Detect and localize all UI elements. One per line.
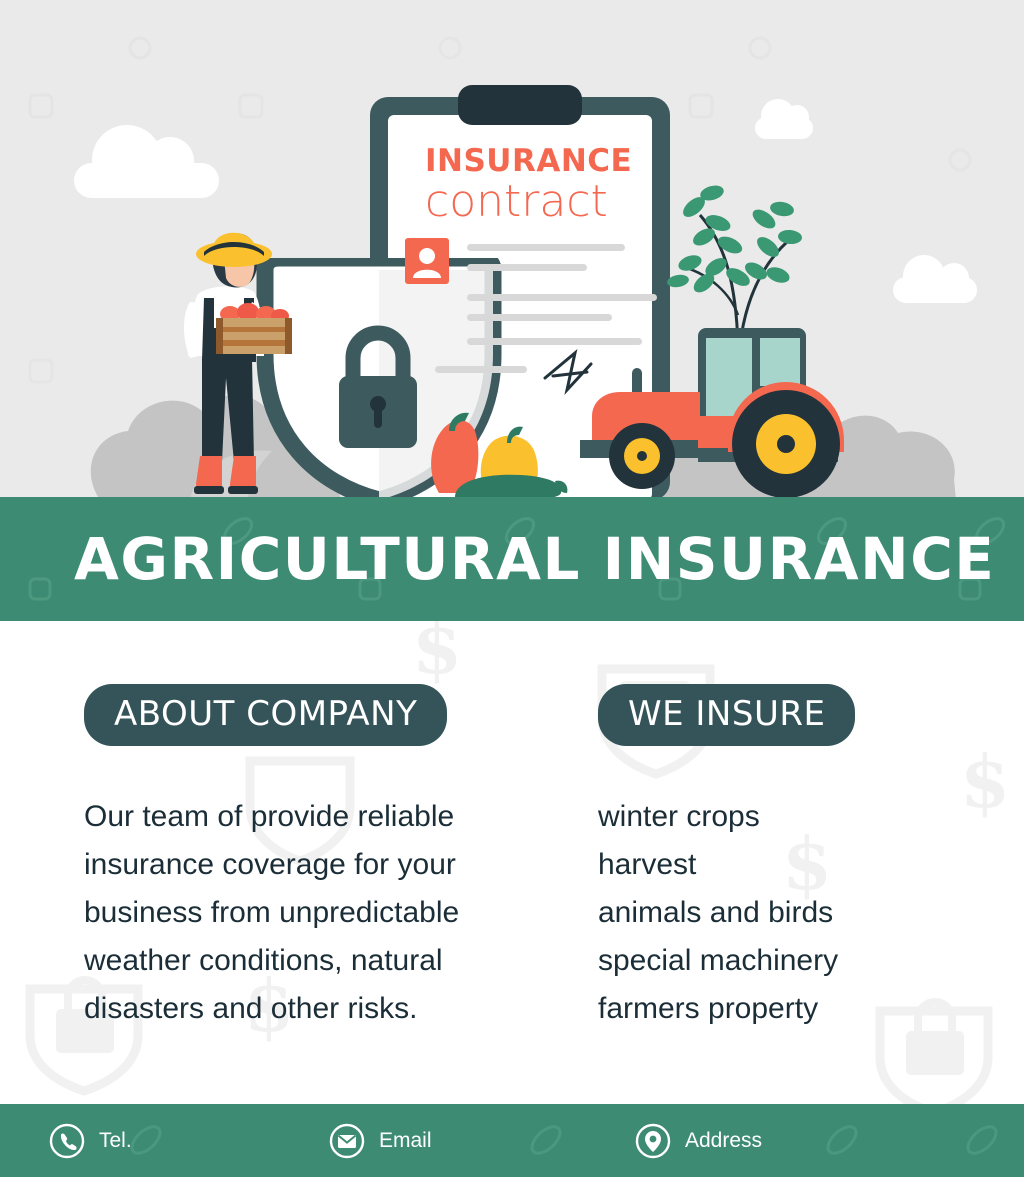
- about-company-heading: ABOUT COMPANY: [84, 684, 447, 746]
- address-icon: [634, 1122, 672, 1160]
- contact-tel[interactable]: Tel.: [48, 1122, 132, 1160]
- clipboard-content: [405, 238, 665, 448]
- clipboard-title-light: contract: [425, 176, 608, 227]
- we-insure-heading: WE INSURE: [598, 684, 855, 746]
- contact-label: Email: [379, 1129, 432, 1153]
- list-item: animals and birds: [598, 889, 998, 937]
- footer-watermark: [0, 1104, 1024, 1177]
- content-section: $ $ $ $ ABOUT COMPANY Our team of provid…: [0, 621, 1024, 1104]
- contact-address[interactable]: Address: [634, 1122, 762, 1160]
- email-icon: [328, 1122, 366, 1160]
- contact-email[interactable]: Email: [328, 1122, 432, 1160]
- phone-icon: [48, 1122, 86, 1160]
- about-company-text: Our team of provide reliable insurance c…: [84, 793, 564, 1033]
- page-title: AGRICULTURAL INSURANCE: [0, 525, 995, 593]
- list-item: special machinery: [598, 937, 998, 985]
- list-item: harvest: [598, 841, 998, 889]
- clipboard-title-bold: INSURANCE: [425, 143, 632, 179]
- we-insure-column: WE INSURE winter crops harvest animals a…: [598, 684, 998, 1033]
- poster-root: INSURANCE contract: [0, 0, 1024, 1177]
- we-insure-list: winter crops harvest animals and birds s…: [598, 793, 998, 1033]
- title-banner: AGRICULTURAL INSURANCE: [0, 497, 1024, 621]
- hero-illustration: INSURANCE contract: [0, 0, 1024, 498]
- contact-label: Tel.: [99, 1129, 132, 1153]
- list-item: farmers property: [598, 985, 998, 1033]
- list-item: winter crops: [598, 793, 998, 841]
- footer-bar: Tel. Email Address: [0, 1104, 1024, 1177]
- contact-label: Address: [685, 1129, 762, 1153]
- about-column: ABOUT COMPANY Our team of provide reliab…: [84, 684, 564, 1033]
- svg-text:$: $: [412, 621, 462, 690]
